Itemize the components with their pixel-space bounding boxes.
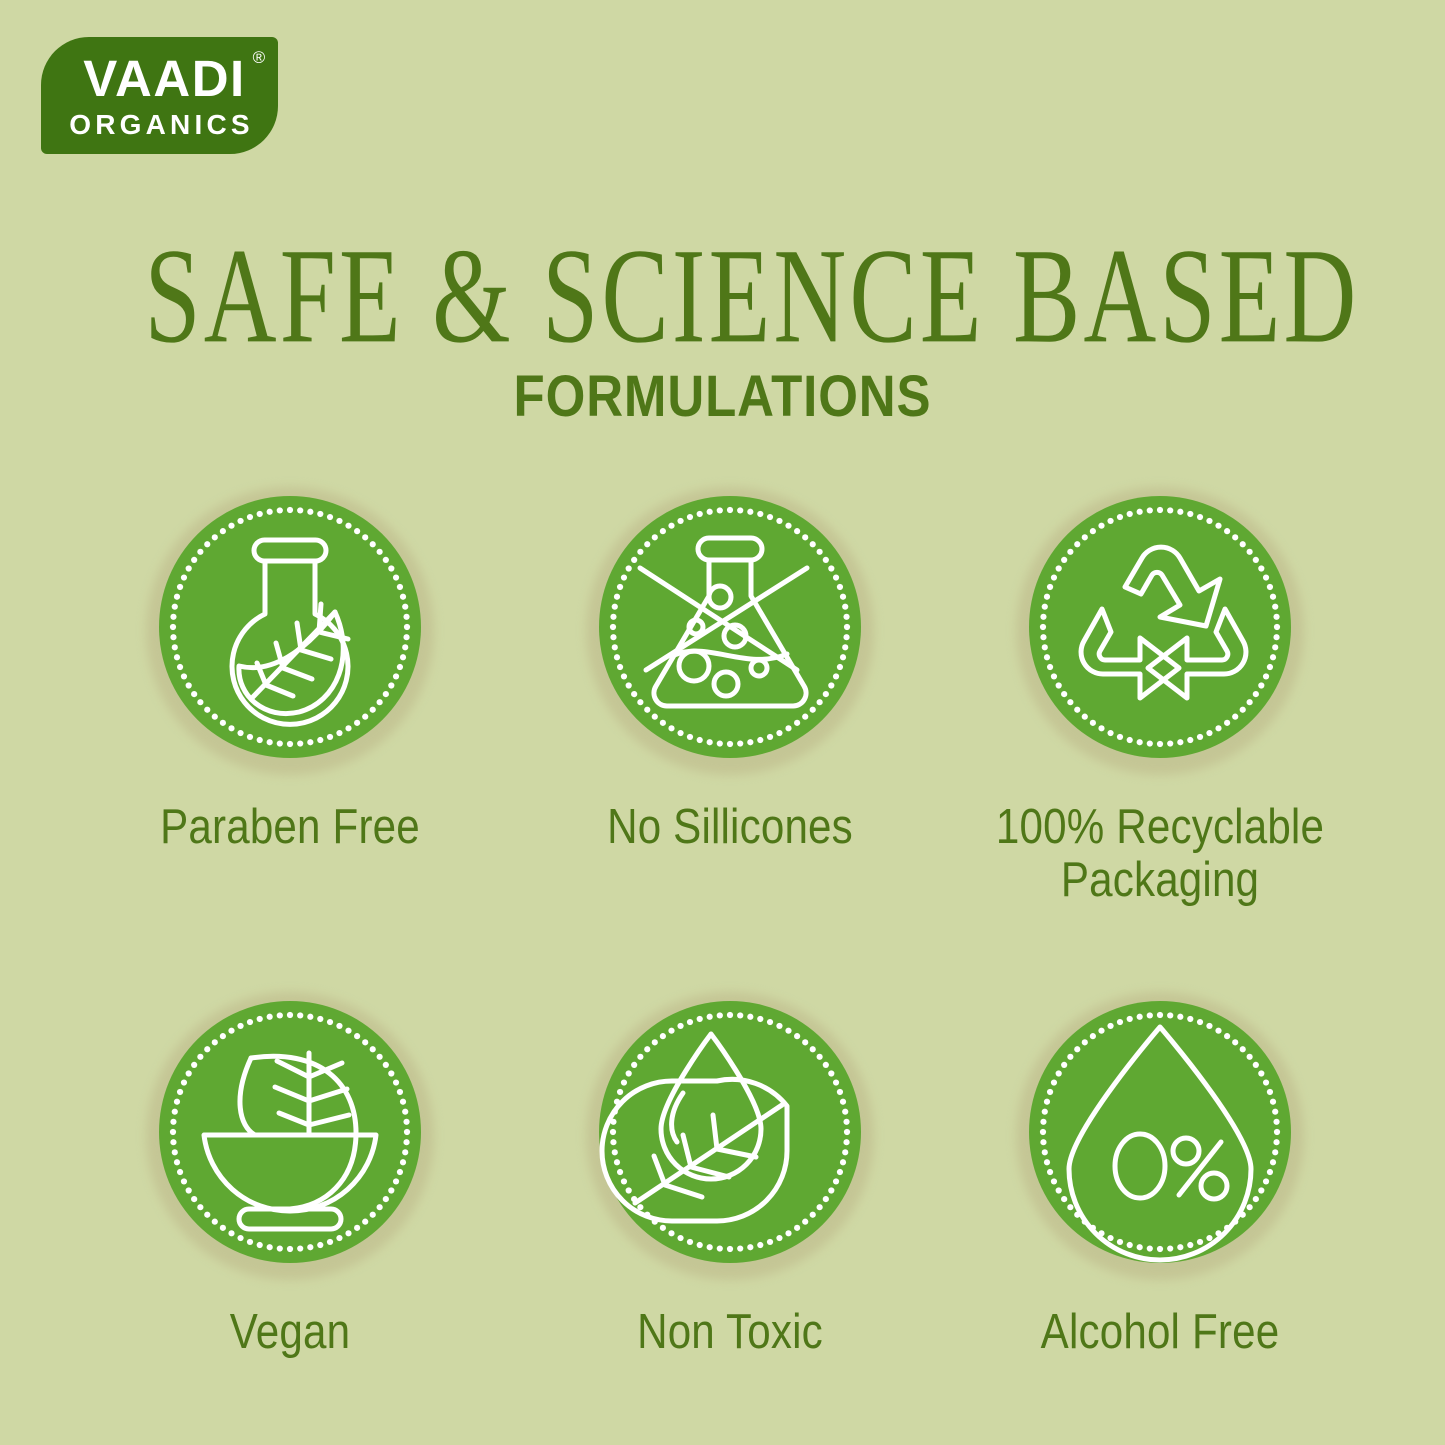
badge-circle-non-toxic: [586, 992, 874, 1280]
page-title: SAFE & SCIENCE BASED: [145, 229, 1301, 365]
badge-label: Non Toxic: [558, 1306, 902, 1359]
badge-circle-alcohol-free: 0%: [1016, 992, 1304, 1280]
badge-circle-paraben-free: [146, 487, 434, 775]
registered-trademark-icon: ®: [253, 49, 267, 66]
infographic-page: VAADI® ORGANICS SAFE & SCIENCE BASED FOR…: [0, 0, 1445, 1445]
badge-non-toxic: Non Toxic: [530, 992, 930, 1359]
badge-alcohol-free: 0%Alcohol Free: [960, 992, 1360, 1359]
badge-no-sillicones: No Sillicones: [530, 487, 930, 854]
recycle-icon: [1029, 496, 1291, 758]
bowl-leaf-icon: [159, 1001, 421, 1263]
brand-tagline: ORGANICS: [69, 111, 254, 139]
badge-paraben-free: Paraben Free: [90, 487, 490, 854]
page-subtitle: FORMULATIONS: [87, 368, 1359, 426]
brand-wordmark: VAADI®: [83, 53, 245, 104]
badge-label: Paraben Free: [118, 801, 462, 854]
badge-recyclable: 100% RecyclablePackaging: [960, 487, 1360, 907]
badge-label: Vegan: [118, 1306, 462, 1359]
brand-name: VAADI: [83, 50, 245, 107]
badge-circle-vegan: [146, 992, 434, 1280]
badge-label: 100% RecyclablePackaging: [988, 801, 1332, 907]
badge-icon-value: 0%: [1029, 1001, 1291, 1263]
droplet-leaf-icon: [599, 1001, 861, 1263]
badge-vegan: Vegan: [90, 992, 490, 1359]
flask-crossed-out-icon: [599, 496, 861, 758]
badge-circle-recyclable: [1016, 487, 1304, 775]
badge-label: Alcohol Free: [988, 1306, 1332, 1359]
badge-circle-no-sillicones: [586, 487, 874, 775]
flask-leaf-icon: [159, 496, 421, 758]
badge-label: No Sillicones: [558, 801, 902, 854]
brand-logo: VAADI® ORGANICS: [41, 37, 278, 154]
